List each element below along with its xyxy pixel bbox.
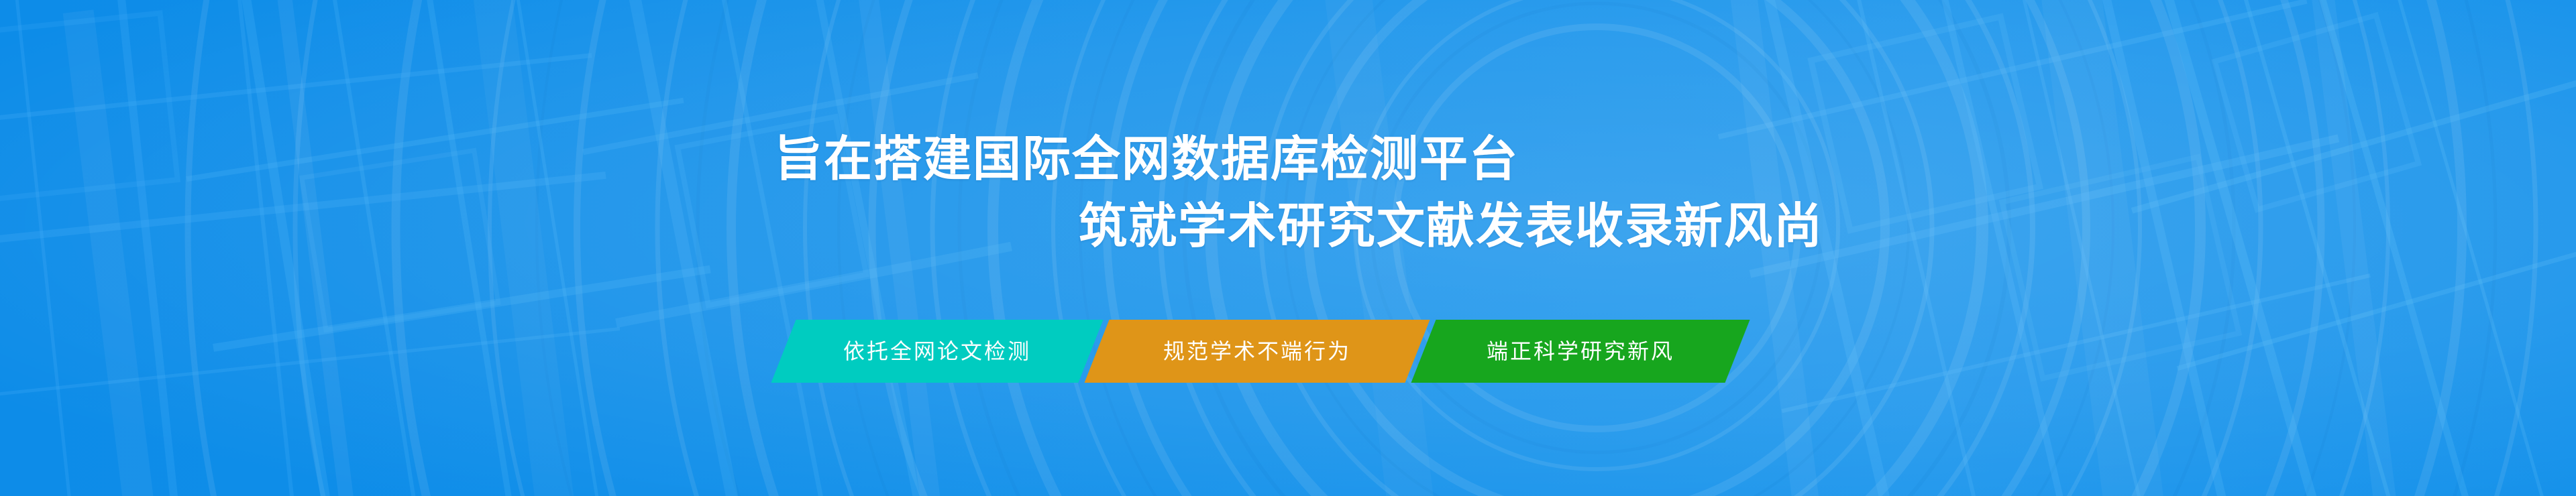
headline-line-2: 筑就学术研究文献发表收录新风尚 xyxy=(0,193,2576,260)
feature-badge-label: 端正科学研究新风 xyxy=(1487,320,1674,383)
headline-block: 旨在搭建国际全网数据库检测平台 筑就学术研究文献发表收录新风尚 xyxy=(0,126,2576,260)
feature-badge-plagiarism-detection[interactable]: 依托全网论文检测 xyxy=(771,320,1103,383)
promo-banner: 旨在搭建国际全网数据库检测平台 筑就学术研究文献发表收录新风尚 依托全网论文检测… xyxy=(0,0,2576,496)
headline-line-1: 旨在搭建国际全网数据库检测平台 xyxy=(0,126,2576,193)
feature-badge-label: 规范学术不端行为 xyxy=(1163,320,1351,383)
feature-badge-row: 依托全网论文检测 规范学术不端行为 端正科学研究新风 xyxy=(784,320,1737,383)
feature-badge-research-integrity[interactable]: 端正科学研究新风 xyxy=(1411,320,1750,383)
feature-badge-label: 依托全网论文检测 xyxy=(843,320,1031,383)
feature-badge-academic-misconduct[interactable]: 规范学术不端行为 xyxy=(1084,320,1430,383)
